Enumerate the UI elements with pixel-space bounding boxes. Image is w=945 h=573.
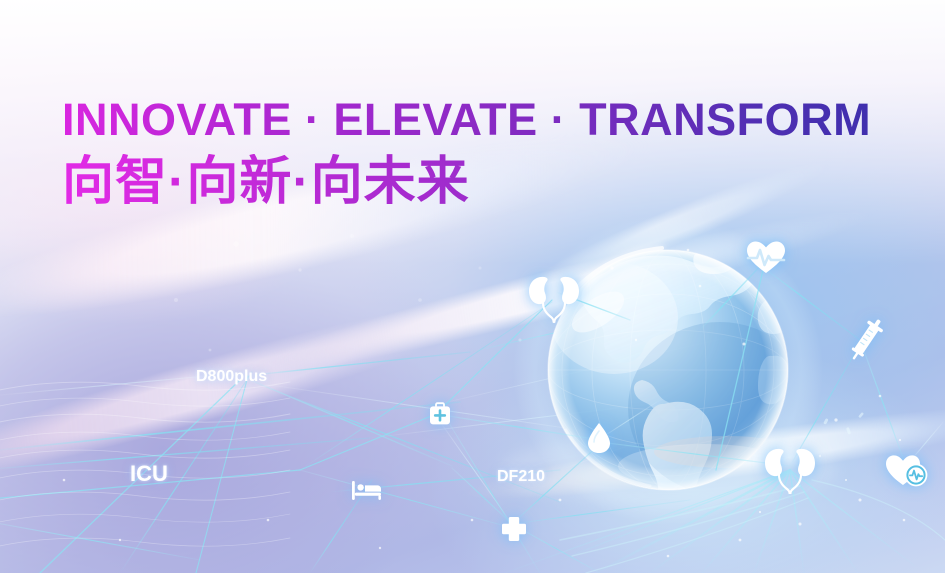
product-label-icu: ICU [130,461,168,487]
hero-banner: INNOVATE · ELEVATE · TRANSFORM 向智·向新·向未来… [0,0,945,573]
hospital-bed-icon [351,479,383,501]
product-label-df210: DF210 [497,468,545,486]
headline-english: INNOVATE · ELEVATE · TRANSFORM [62,96,871,144]
medical-cross-icon [501,516,527,542]
syringe-icon [846,316,886,364]
headline-chinese: 向智·向新·向未来 [62,154,871,210]
heart-pulse-icon [746,240,786,274]
heart-monitor-icon [885,450,929,490]
blood-drop-icon [586,422,612,454]
product-label-d800plus: D800plus [196,368,267,386]
kidneys-icon [526,272,582,324]
headline-block: INNOVATE · ELEVATE · TRANSFORM 向智·向新·向未来 [62,96,871,210]
medical-kit-icon [428,402,452,426]
kidneys-icon-bottom [762,446,818,494]
